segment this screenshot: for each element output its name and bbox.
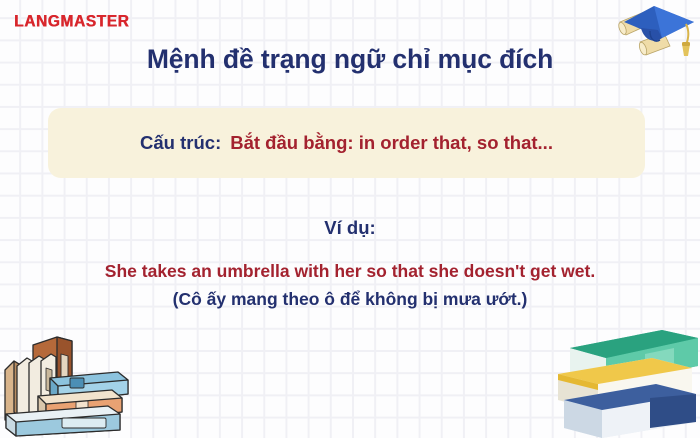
example-sentence-english: She takes an umbrella with her so that s…: [0, 261, 700, 282]
example-sentence-vietnamese: (Cô ấy mang theo ô để không bị mưa ướt.): [0, 289, 700, 310]
book-stack-icon: [550, 318, 700, 438]
structure-value: Bắt đầu bằng: in order that, so that...: [230, 132, 553, 153]
structure-label: Cấu trúc:: [140, 132, 221, 153]
structure-line: Cấu trúc:Bắt đầu bằng: in order that, so…: [140, 134, 553, 153]
example-heading: Ví dụ:: [0, 217, 700, 239]
slide-canvas: LANGMASTER Mệnh đề trạng ngữ chỉ mục đíc…: [0, 0, 700, 438]
page-title: Mệnh đề trạng ngữ chỉ mục đích: [0, 44, 700, 75]
graduation-cap-icon: [610, 0, 696, 66]
structure-callout-box: Cấu trúc:Bắt đầu bằng: in order that, so…: [48, 108, 645, 178]
book-stack-icon: [0, 328, 132, 438]
langmaster-logo: LANGMASTER: [14, 13, 129, 32]
